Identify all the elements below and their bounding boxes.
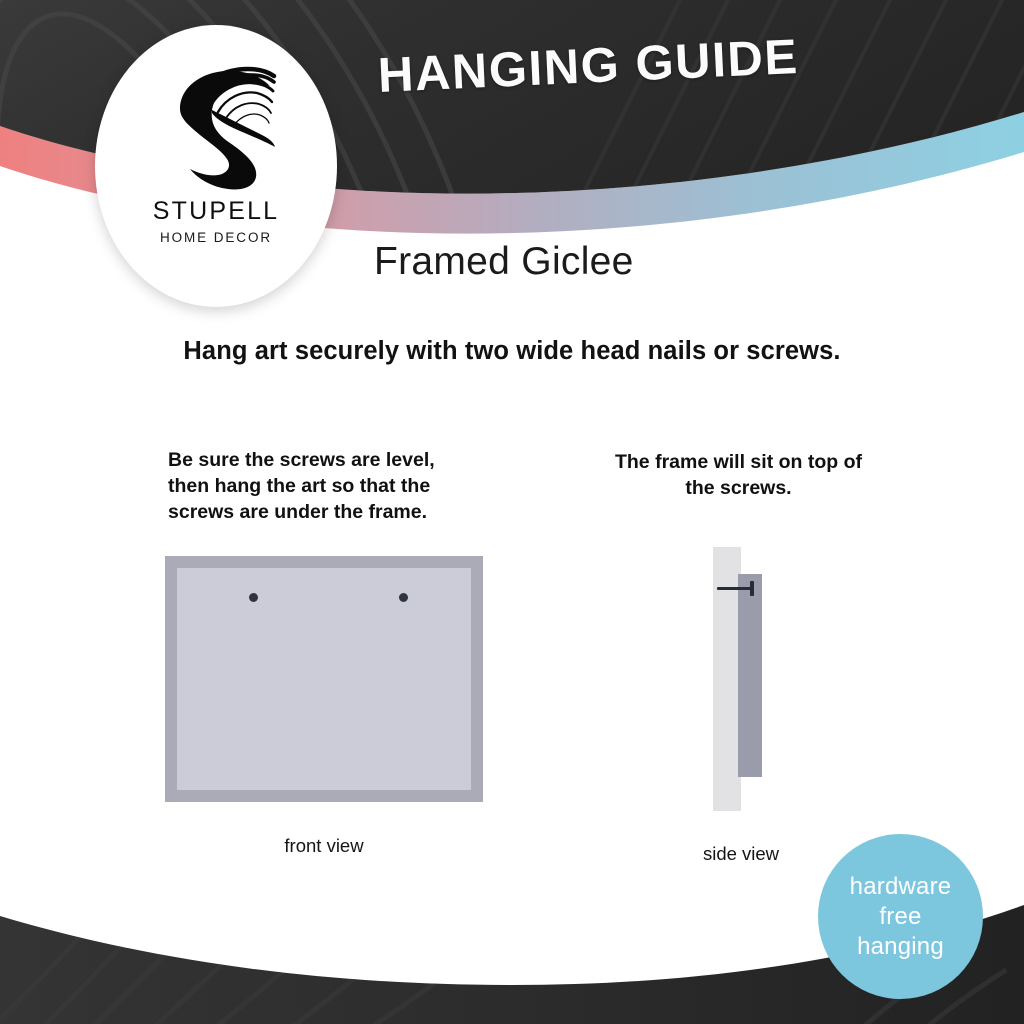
side-view-caption: The frame will sit on top of the screws. <box>606 449 871 501</box>
nail-shaft-icon <box>717 587 754 590</box>
badge-line-3: hanging <box>857 932 944 962</box>
front-view-caption: Be sure the screws are level, then hang … <box>168 447 468 525</box>
stupell-swoosh-logo-icon <box>154 55 278 191</box>
hardware-free-badge: hardware free hanging <box>818 834 983 999</box>
screw-dot-left <box>249 593 258 602</box>
hanging-guide-page: STUPELL HOME DECOR HANGING GUIDE Framed … <box>0 0 1024 1024</box>
brand-name: STUPELL <box>153 199 280 224</box>
nail-head-icon <box>750 581 754 596</box>
front-view-label: front view <box>165 835 483 857</box>
frame-panel <box>738 574 762 777</box>
frame-mat <box>177 568 471 790</box>
side-view-diagram <box>705 545 777 815</box>
product-type-heading: Framed Giclee <box>374 240 634 284</box>
screw-dot-right <box>399 593 408 602</box>
brand-logo-badge: STUPELL HOME DECOR <box>95 25 337 307</box>
badge-line-1: hardware <box>850 872 952 902</box>
brand-tagline: HOME DECOR <box>160 231 272 245</box>
side-view-label: side view <box>655 843 827 865</box>
lead-instruction: Hang art securely with two wide head nai… <box>0 337 1024 366</box>
page-title: HANGING GUIDE <box>377 29 800 104</box>
front-view-diagram <box>165 556 483 802</box>
badge-line-2: free <box>879 902 921 932</box>
